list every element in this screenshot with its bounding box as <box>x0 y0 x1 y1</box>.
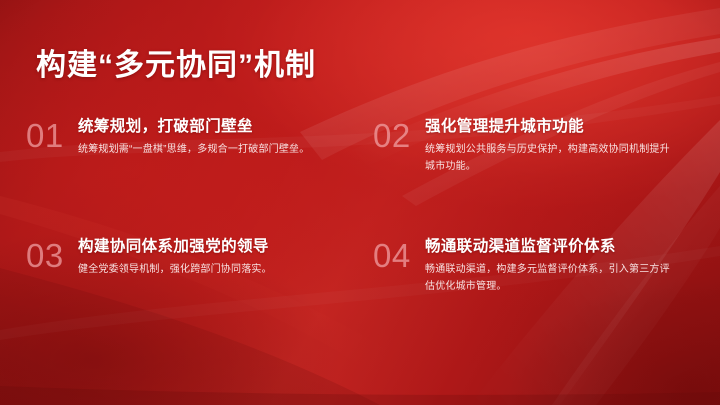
slide-canvas: 构建“多元协同”机制 01 统筹规划，打破部门壁垒 统筹规划需“一盘棋”思维，多… <box>0 0 720 405</box>
item-04: 04 畅通联动渠道监督评价体系 畅通联动渠道，构建多元监督评价体系，引入第三方评… <box>373 228 720 348</box>
item-description-02: 统筹规划公共服务与历史保护，构建高效协同机制提升城市功能。 <box>425 142 677 175</box>
item-number-03: 03 <box>26 228 78 273</box>
item-description-04: 畅通联动渠道，构建多元监督评价体系，引入第三方评估优化城市管理。 <box>425 262 677 295</box>
item-heading-04: 畅通联动渠道监督评价体系 <box>425 236 706 257</box>
item-body-03: 构建协同体系加强党的领导 健全党委领导机制，强化跨部门协同落实。 <box>78 228 359 279</box>
item-01: 01 统筹规划，打破部门壁垒 统筹规划需“一盘棋”思维，多规合一打破部门壁垒。 <box>26 108 373 228</box>
item-body-02: 强化管理提升城市功能 统筹规划公共服务与历史保护，构建高效协同机制提升城市功能。 <box>425 108 706 175</box>
item-02: 02 强化管理提升城市功能 统筹规划公共服务与历史保护，构建高效协同机制提升城市… <box>373 108 720 228</box>
item-description-03: 健全党委领导机制，强化跨部门协同落实。 <box>78 262 330 279</box>
item-number-04: 04 <box>373 228 425 273</box>
item-heading-01: 统筹规划，打破部门壁垒 <box>78 116 359 137</box>
item-number-01: 01 <box>26 108 78 153</box>
item-heading-02: 强化管理提升城市功能 <box>425 116 706 137</box>
item-03: 03 构建协同体系加强党的领导 健全党委领导机制，强化跨部门协同落实。 <box>26 228 373 348</box>
item-description-01: 统筹规划需“一盘棋”思维，多规合一打破部门壁垒。 <box>78 142 330 159</box>
item-body-01: 统筹规划，打破部门壁垒 统筹规划需“一盘棋”思维，多规合一打破部门壁垒。 <box>78 108 359 159</box>
item-body-04: 畅通联动渠道监督评价体系 畅通联动渠道，构建多元监督评价体系，引入第三方评估优化… <box>425 228 706 295</box>
items-grid: 01 统筹规划，打破部门壁垒 统筹规划需“一盘棋”思维，多规合一打破部门壁垒。 … <box>0 108 720 348</box>
page-title: 构建“多元协同”机制 <box>36 46 316 86</box>
item-number-02: 02 <box>373 108 425 153</box>
item-heading-03: 构建协同体系加强党的领导 <box>78 236 359 257</box>
